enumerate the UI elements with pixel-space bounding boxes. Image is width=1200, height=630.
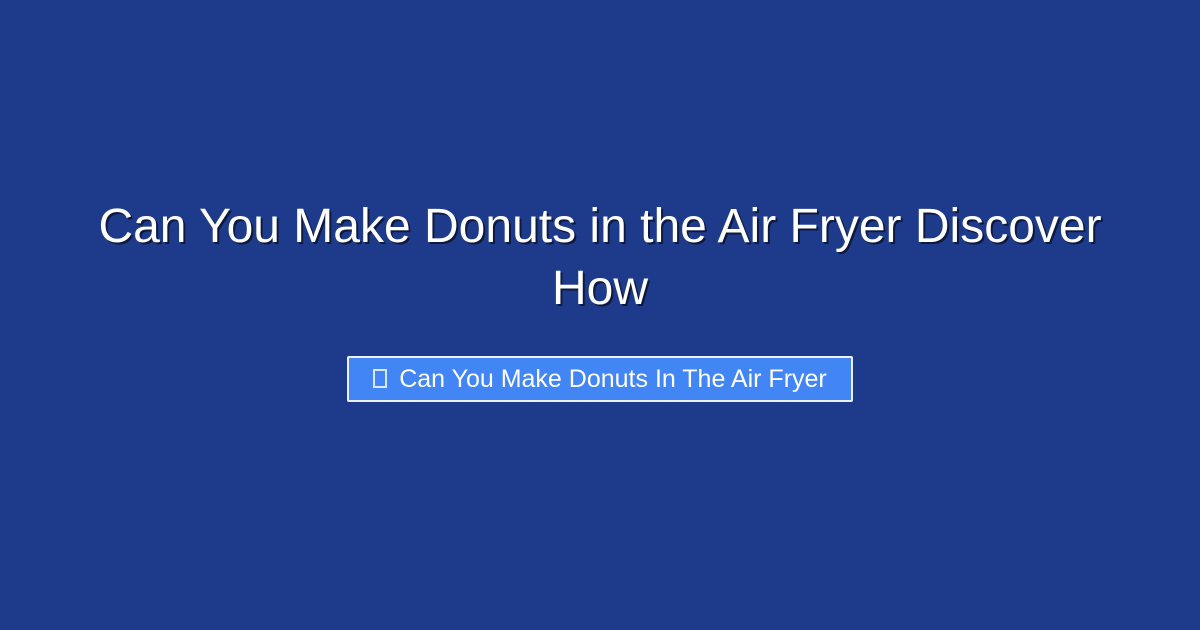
cta-button[interactable]: Can You Make Donuts In The Air Fryer (347, 356, 853, 402)
page-title: Can You Make Donuts in the Air Fryer Dis… (0, 196, 1200, 320)
cta-container: Can You Make Donuts In The Air Fryer (0, 356, 1200, 402)
missing-glyph-box-icon (373, 369, 387, 388)
cta-button-label: Can You Make Donuts In The Air Fryer (399, 367, 827, 392)
social-share-card: Can You Make Donuts in the Air Fryer Dis… (0, 0, 1200, 630)
